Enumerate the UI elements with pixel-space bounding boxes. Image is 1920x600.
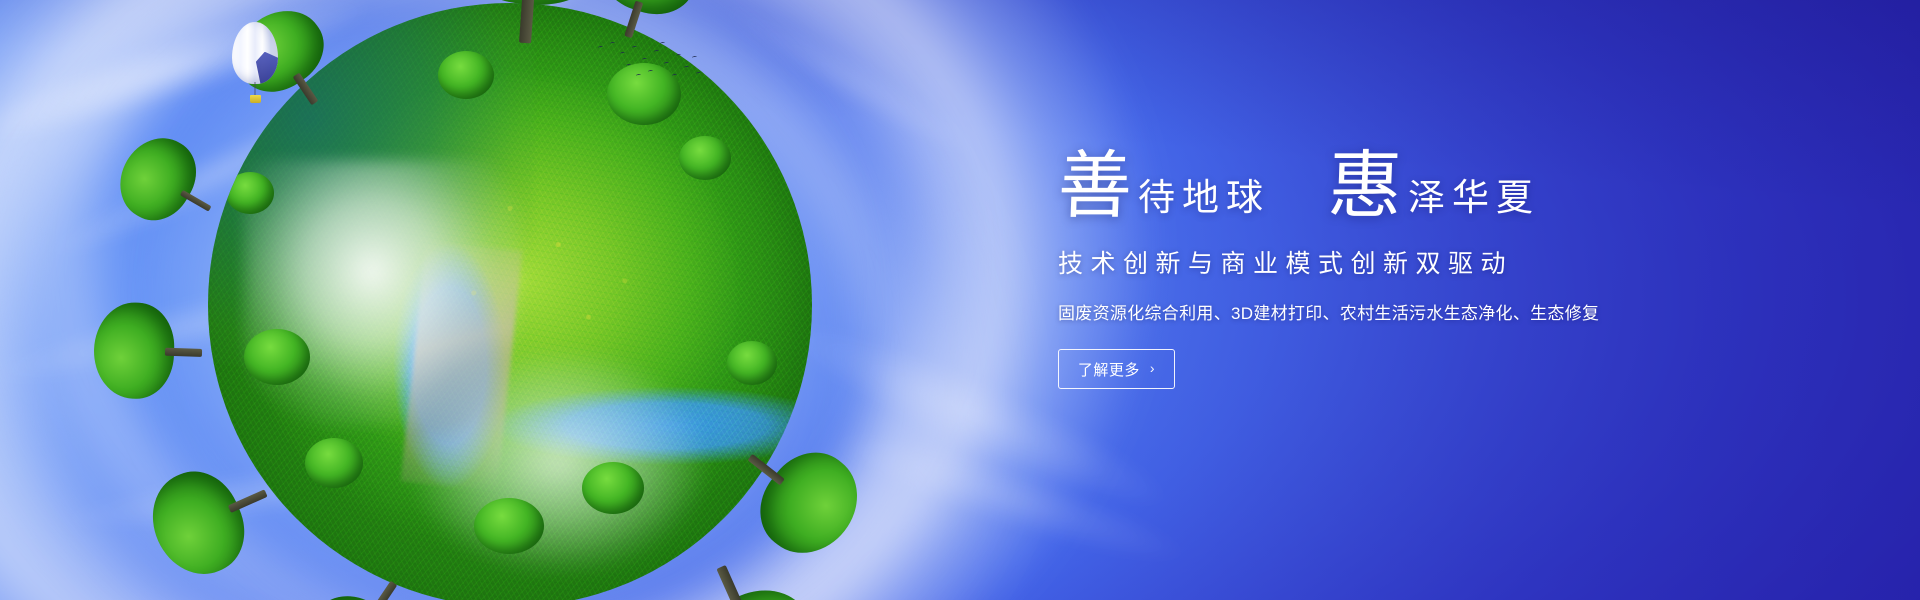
hero-copy-block: 善 待地球 惠 泽华夏 技术创新与商业模式创新双驱动 固废资源化综合利用、3D建… — [1058, 134, 1818, 389]
headline-rest-1: 待地球 — [1138, 179, 1270, 220]
bush — [244, 329, 310, 385]
subtitle: 技术创新与商业模式创新双驱动 — [1058, 244, 1818, 280]
learn-more-label: 了解更多 — [1078, 359, 1140, 380]
mist-lower — [413, 353, 703, 570]
bush — [438, 51, 494, 99]
chevron-right-icon: › — [1150, 361, 1155, 375]
headline-rest-2: 泽华夏 — [1408, 179, 1540, 220]
learn-more-button[interactable]: 了解更多 › — [1058, 349, 1175, 389]
bush — [305, 438, 363, 488]
description: 固废资源化综合利用、3D建材打印、农村生活污水生态净化、生态修复 — [1058, 299, 1818, 324]
tree — [92, 301, 203, 401]
headline: 善 待地球 惠 泽华夏 — [1058, 134, 1818, 220]
bush — [679, 136, 731, 180]
headline-group-two: 惠 泽华夏 — [1328, 152, 1540, 220]
hot-air-balloon-icon — [232, 22, 278, 106]
bush — [226, 172, 274, 214]
hero-banner: 善 待地球 惠 泽华夏 技术创新与商业模式创新双驱动 固废资源化综合利用、3D建… — [0, 0, 1920, 600]
bush — [474, 498, 544, 554]
bird-flock-icon — [596, 40, 716, 88]
headline-char-big-1: 善 — [1057, 152, 1133, 220]
headline-char-big-2: 惠 — [1327, 152, 1403, 220]
headline-group-one: 善 待地球 — [1058, 152, 1270, 220]
